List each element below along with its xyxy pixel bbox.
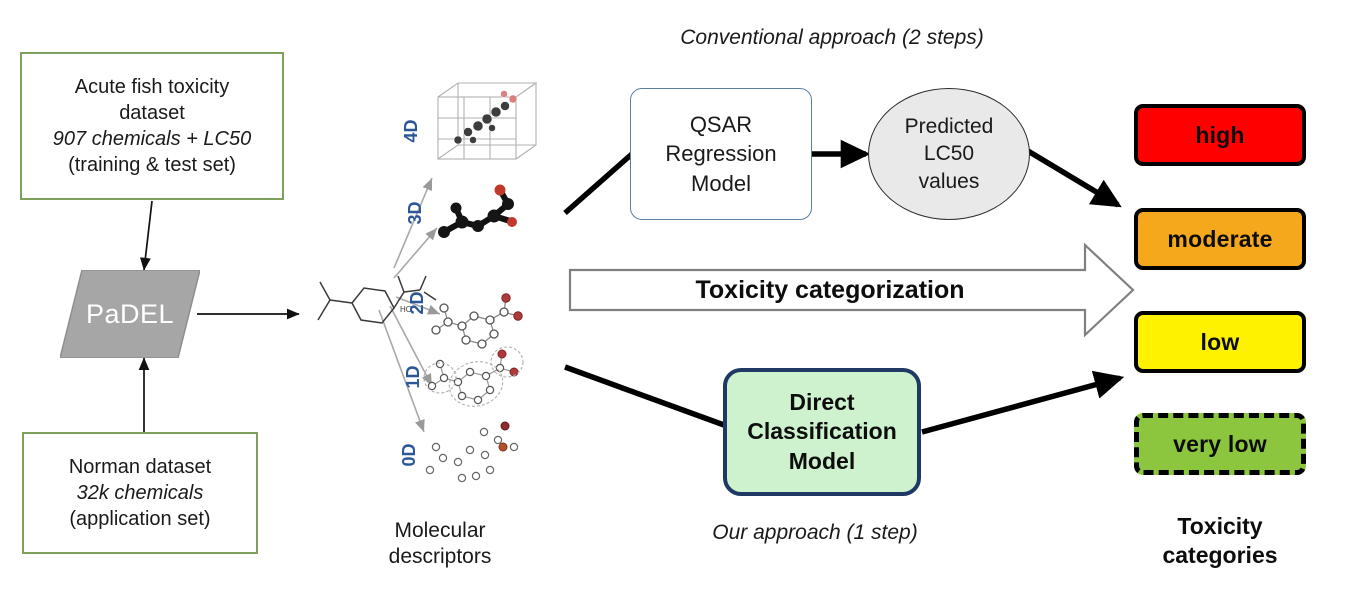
- acute-line-1: Acute fish toxicity: [53, 74, 251, 100]
- diagram-canvas: HO: [0, 0, 1360, 607]
- direct-classification-model-box[interactable]: Direct Classification Model: [723, 368, 921, 496]
- dimension-label-4d: 4D: [398, 114, 424, 148]
- descriptor-illustration-2d-atoms: [432, 304, 508, 348]
- molecular-descriptors-line-2: descriptors: [330, 544, 550, 570]
- conventional-approach-caption: Conventional approach (2 steps): [632, 26, 1032, 50]
- descriptor-illustration-3d: [438, 185, 517, 239]
- block-arrow-label-text: Toxicity categorization: [695, 276, 964, 305]
- category-chip-low[interactable]: low: [1134, 311, 1306, 373]
- acute-line-2: dataset: [53, 100, 251, 126]
- line-descriptors-to-qsar: [565, 153, 633, 213]
- line-descriptors-to-dcm: [565, 367, 724, 425]
- acute-line-3: 907 chemicals + LC50: [53, 126, 251, 152]
- our-approach-text: Our approach (1 step): [712, 521, 917, 544]
- descriptor-illustration-2d: [436, 298, 518, 344]
- dimension-label-4d-text: 4D: [401, 120, 422, 143]
- qsar-line-3: Model: [665, 169, 776, 198]
- category-chip-high[interactable]: high: [1134, 104, 1306, 166]
- predicted-line-3: values: [905, 168, 994, 195]
- dimension-label-2d-text: 2D: [407, 292, 428, 315]
- dcm-line-3: Model: [747, 447, 897, 476]
- toxicity-categories-line-2: categories: [1134, 541, 1306, 570]
- category-chip-very-low[interactable]: very low: [1134, 413, 1306, 475]
- block-arrow-label: Toxicity categorization: [590, 274, 1070, 306]
- arrow-ellipse-to-categories: [1023, 148, 1118, 205]
- molecular-descriptors-caption: Molecular descriptors: [330, 518, 550, 571]
- dimension-label-3d: 3D: [402, 196, 428, 230]
- norman-line-1: Norman dataset: [69, 454, 211, 480]
- acute-line-4: (training & test set): [53, 152, 251, 178]
- padel-text: PaDEL: [86, 299, 174, 330]
- norman-line-3: (application set): [69, 506, 211, 532]
- arrow-mol-to-3d: [394, 228, 437, 278]
- padel-label: PaDEL: [60, 270, 200, 358]
- qsar-line-1: QSAR: [665, 110, 776, 139]
- category-chip-very-low-label: very low: [1173, 431, 1267, 458]
- qsar-regression-model-box[interactable]: QSAR Regression Model: [630, 88, 812, 220]
- toxicity-categories-line-1: Toxicity: [1134, 512, 1306, 541]
- category-chip-moderate[interactable]: moderate: [1134, 208, 1306, 270]
- descriptor-illustration-4d: [438, 83, 536, 159]
- dataset-box-norman[interactable]: Norman dataset 32k chemicals (applicatio…: [22, 432, 258, 554]
- predicted-lc50-values-ellipse[interactable]: Predicted LC50 values: [868, 88, 1030, 220]
- norman-line-2: 32k chemicals: [69, 480, 211, 506]
- dimension-label-1d: 1D: [400, 360, 426, 394]
- predicted-line-1: Predicted: [905, 113, 994, 140]
- arrow-dcm-to-categories: [922, 378, 1120, 432]
- descriptor-illustration-0d: [426, 428, 517, 481]
- dimension-label-3d-text: 3D: [405, 202, 426, 225]
- dimension-label-2d: 2D: [404, 286, 430, 320]
- dimension-label-0d-text: 0D: [399, 444, 420, 467]
- dimension-label-0d: 0D: [396, 438, 422, 472]
- dcm-line-1: Direct: [747, 388, 897, 417]
- descriptor-illustration-1d: [424, 347, 523, 412]
- dimension-label-1d-text: 1D: [403, 366, 424, 389]
- predicted-line-2: LC50: [905, 140, 994, 167]
- conventional-approach-text: Conventional approach (2 steps): [680, 26, 984, 49]
- molecular-descriptors-line-1: Molecular: [330, 518, 550, 544]
- arrow-dataset-to-padel: [144, 201, 152, 270]
- category-chip-moderate-label: moderate: [1167, 226, 1272, 253]
- dataset-box-acute-fish[interactable]: Acute fish toxicity dataset 907 chemical…: [20, 52, 284, 200]
- our-approach-caption: Our approach (1 step): [665, 521, 965, 545]
- qsar-line-2: Regression: [665, 139, 776, 168]
- dcm-line-2: Classification: [747, 417, 897, 446]
- category-chip-low-label: low: [1201, 329, 1240, 356]
- toxicity-categories-title: Toxicity categories: [1134, 512, 1306, 570]
- category-chip-high-label: high: [1195, 122, 1244, 149]
